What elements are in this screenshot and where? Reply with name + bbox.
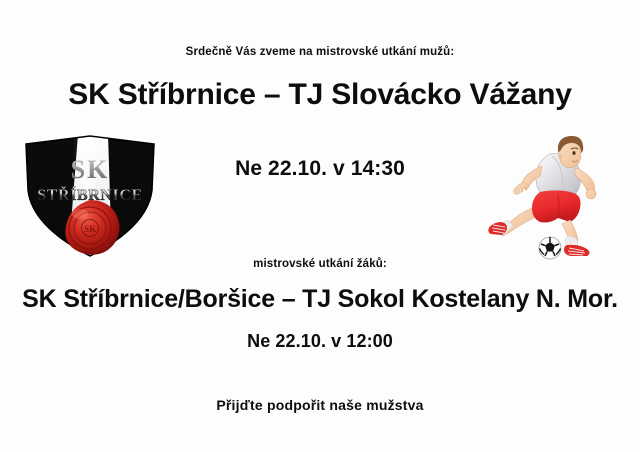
player-back-leg (488, 208, 534, 236)
front-shoe (564, 245, 590, 256)
seal-initials: SK (84, 224, 96, 234)
player-svg (488, 132, 616, 260)
player-front-leg (562, 220, 590, 256)
soccer-ball (539, 237, 561, 259)
player-shorts (532, 190, 581, 222)
left-hand (514, 182, 530, 194)
crest-initials: SK (71, 155, 110, 184)
youth-match-title: SK Stříbrnice/Boršice – TJ Sokol Kostela… (0, 285, 640, 314)
player-head (558, 136, 583, 168)
youth-match-datetime: Ne 22.10. v 12:00 (0, 331, 640, 352)
invitation-line: Srdečně Vás zveme na mistrovské utkání m… (0, 46, 640, 58)
closing-line: Přijďte podpořit naše mužstva (0, 397, 640, 413)
right-hand (586, 189, 596, 199)
men-match-title: SK Stříbrnice – TJ Slovácko Vážany (0, 78, 640, 112)
match-announcement-poster: Srdečně Vás zveme na mistrovské utkání m… (0, 0, 640, 452)
soccer-player-illustration (488, 132, 616, 260)
crest-svg: SK STŘÍBRNICE SK (12, 134, 168, 262)
club-crest-logo: SK STŘÍBRNICE SK (12, 134, 168, 262)
back-shoe (488, 222, 507, 235)
